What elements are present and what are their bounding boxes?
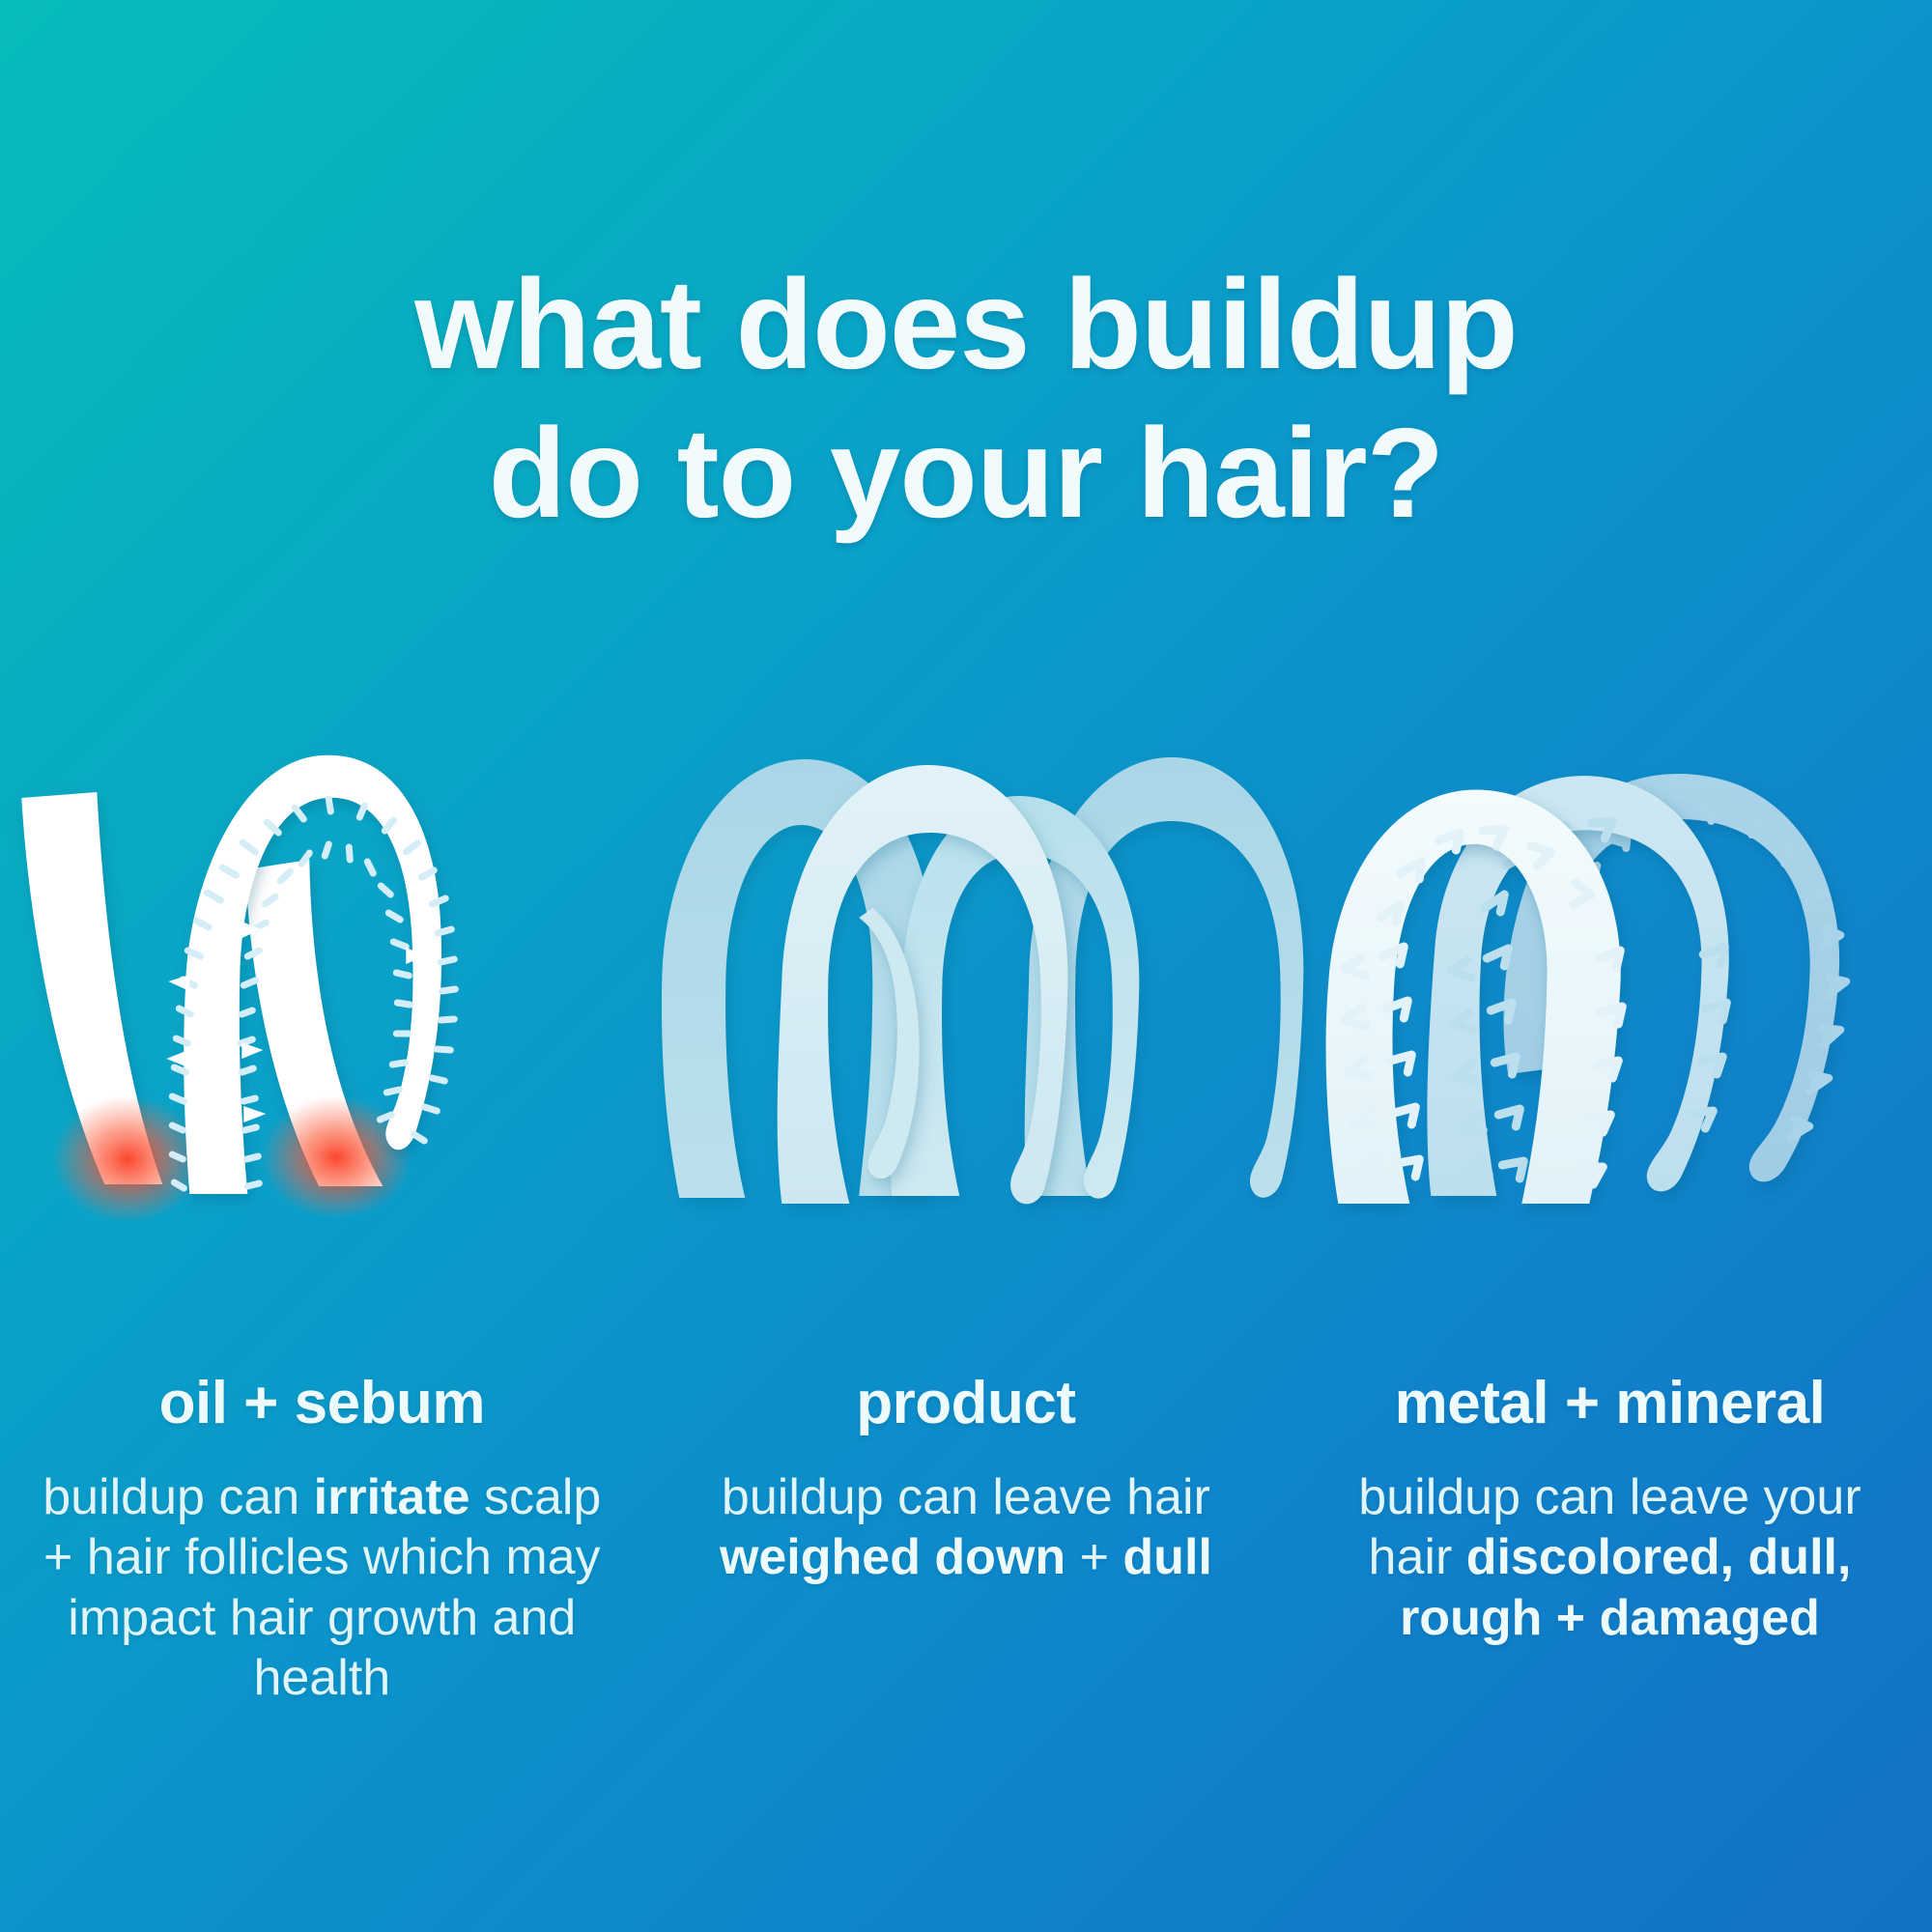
col-body-product: buildup can leave hair weighed down + du… — [644, 1467, 1289, 1588]
art-product — [644, 734, 1289, 1333]
title-line-2: do to your hair? — [0, 410, 1932, 537]
rough-damaged-flaking-cuticle-hair-strands-icon — [1288, 734, 1932, 1333]
col-body-oil-sebum: buildup can irritate scalp + hair follic… — [0, 1467, 644, 1709]
caption-metal-mineral: metal + mineral buildup can leave your h… — [1288, 1372, 1932, 1648]
caption-oil-sebum: oil + sebum buildup can irritate scalp +… — [0, 1372, 644, 1709]
column-product: product buildup can leave hair weighed d… — [644, 734, 1289, 1855]
art-oil-sebum — [0, 734, 644, 1333]
page-title: what does buildup do to your hair? — [0, 261, 1932, 537]
columns-container: oil + sebum buildup can irritate scalp +… — [0, 734, 1932, 1855]
caption-product: product buildup can leave hair weighed d… — [644, 1372, 1289, 1588]
buildup-infographic: what does buildup do to your hair? — [0, 0, 1932, 1932]
art-metal-mineral — [1288, 734, 1932, 1333]
col-heading-product: product — [644, 1372, 1289, 1435]
col-body-metal-mineral: buildup can leave your hair discolored, … — [1288, 1467, 1932, 1648]
column-oil-sebum: oil + sebum buildup can irritate scalp +… — [0, 734, 644, 1855]
smooth-weighed-down-dull-hair-strands-icon — [644, 734, 1289, 1333]
col-heading-metal-mineral: metal + mineral — [1288, 1372, 1932, 1435]
title-line-1: what does buildup — [0, 261, 1932, 388]
hair-strands-with-cuticle-scales-irritated-scalp-icon — [0, 734, 644, 1333]
col-heading-oil-sebum: oil + sebum — [0, 1372, 644, 1435]
column-metal-mineral: metal + mineral buildup can leave your h… — [1288, 734, 1932, 1855]
